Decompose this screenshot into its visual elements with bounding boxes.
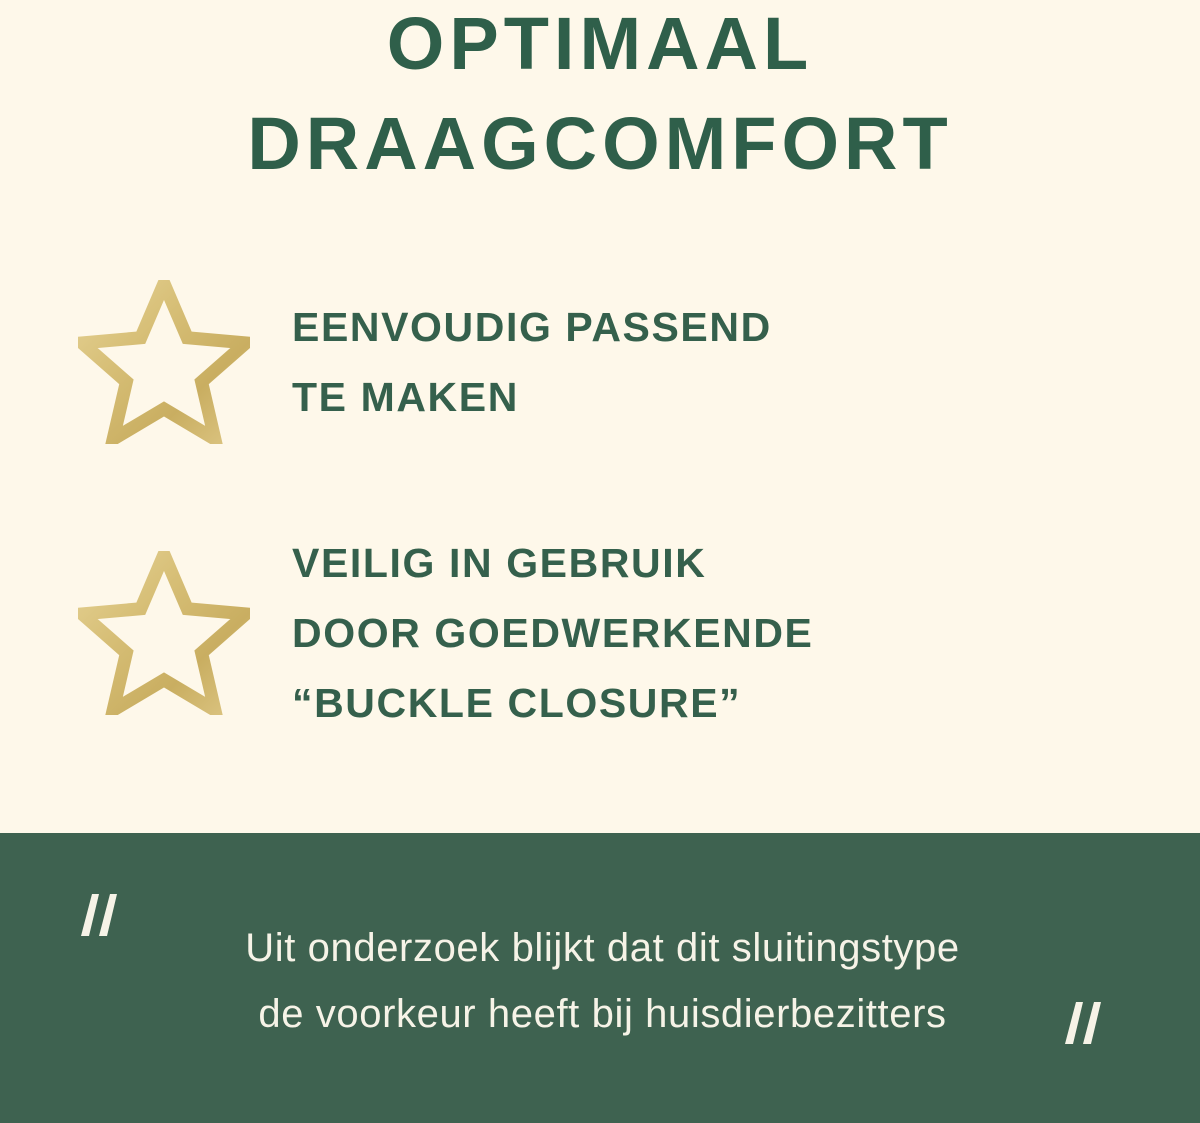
page-title-line-2: DRAAGCOMFORT (0, 94, 1200, 194)
feature-2-text: VEILIG IN GEBRUIK DOOR GOEDWERKENDE “BUC… (292, 528, 814, 738)
promo-panel: OPTIMAAL DRAAGCOMFORT EENVOUDIG PASSEND (0, 0, 1200, 1123)
star-outline-icon (78, 551, 250, 715)
feature-1-line-1: EENVOUDIG PASSEND (292, 292, 772, 362)
page-title: OPTIMAAL DRAAGCOMFORT (0, 0, 1200, 194)
quote-text: Uit onderzoek blijkt dat dit sluitingsty… (60, 915, 1145, 1047)
quote-banner: Uit onderzoek blijkt dat dit sluitingsty… (0, 833, 1200, 1123)
feature-item-2: VEILIG IN GEBRUIK DOOR GOEDWERKENDE “BUC… (78, 528, 814, 738)
feature-1-line-2: TE MAKEN (292, 362, 772, 432)
quote-close-icon (1062, 1000, 1108, 1056)
quote-open-icon (78, 892, 124, 948)
quote-banner-inner: Uit onderzoek blijkt dat dit sluitingsty… (0, 833, 1200, 1123)
feature-1-text: EENVOUDIG PASSEND TE MAKEN (292, 292, 772, 432)
quote-line-2: de voorkeur heeft bij huisdierbezitters (60, 981, 1145, 1047)
features-section: OPTIMAAL DRAAGCOMFORT EENVOUDIG PASSEND (0, 0, 1200, 833)
feature-item-1: EENVOUDIG PASSEND TE MAKEN (78, 280, 772, 444)
feature-2-line-1: VEILIG IN GEBRUIK (292, 528, 814, 598)
feature-2-line-2: DOOR GOEDWERKENDE (292, 598, 814, 668)
quote-line-1: Uit onderzoek blijkt dat dit sluitingsty… (60, 915, 1145, 981)
star-outline-icon (78, 280, 250, 444)
page-title-line-1: OPTIMAAL (0, 0, 1200, 94)
feature-2-line-3: “BUCKLE CLOSURE” (292, 668, 814, 738)
